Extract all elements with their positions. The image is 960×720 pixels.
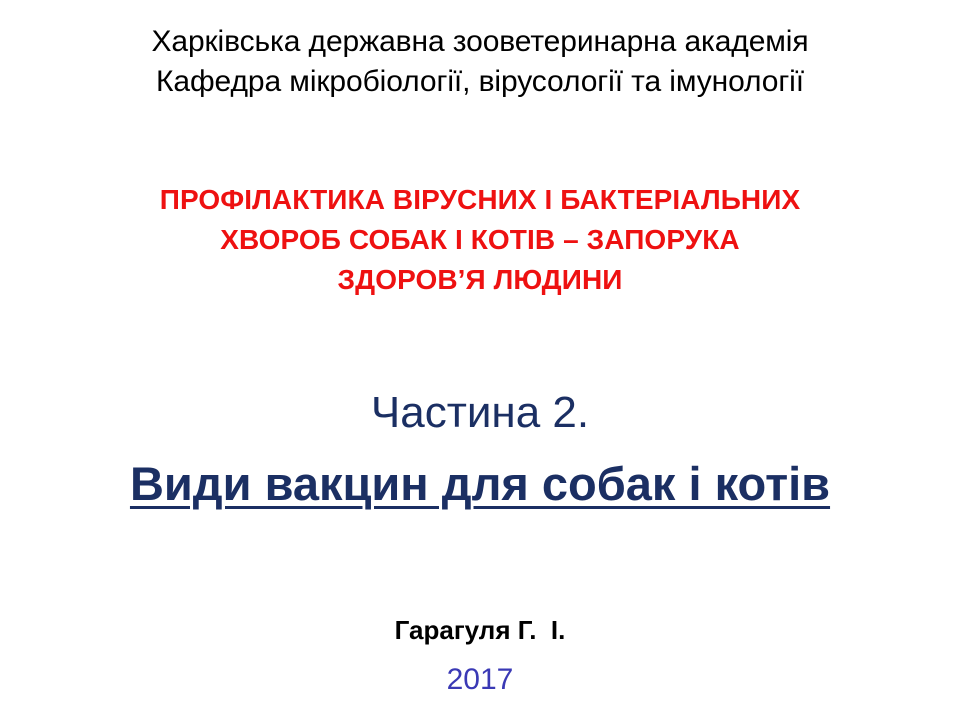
subtitle: Види вакцин для собак і котів	[0, 455, 960, 513]
main-title-line-2: ХВОРОБ СОБАК І КОТІВ – ЗАПОРУКА	[0, 220, 960, 260]
year: 2017	[0, 661, 960, 699]
institution-header: Харківська державна зооветеринарна акаде…	[0, 22, 960, 102]
subtitle-text: Види вакцин для собак і котів	[130, 455, 830, 513]
main-title-line-3: ЗДОРОВ’Я ЛЮДИНИ	[0, 260, 960, 300]
main-title: ПРОФІЛАКТИКА ВІРУСНИХ І БАКТЕРІАЛЬНИХ ХВ…	[0, 180, 960, 300]
institution-department-name: Кафедра мікробіології, вірусології та ім…	[0, 62, 960, 102]
part-number: Частина 2.	[0, 386, 960, 440]
title-slide: Харківська державна зооветеринарна акаде…	[0, 0, 960, 720]
main-title-line-1: ПРОФІЛАКТИКА ВІРУСНИХ І БАКТЕРІАЛЬНИХ	[0, 180, 960, 220]
institution-academy-name: Харківська державна зооветеринарна акаде…	[0, 22, 960, 62]
author-name: Гарагуля Г. І.	[0, 614, 960, 646]
